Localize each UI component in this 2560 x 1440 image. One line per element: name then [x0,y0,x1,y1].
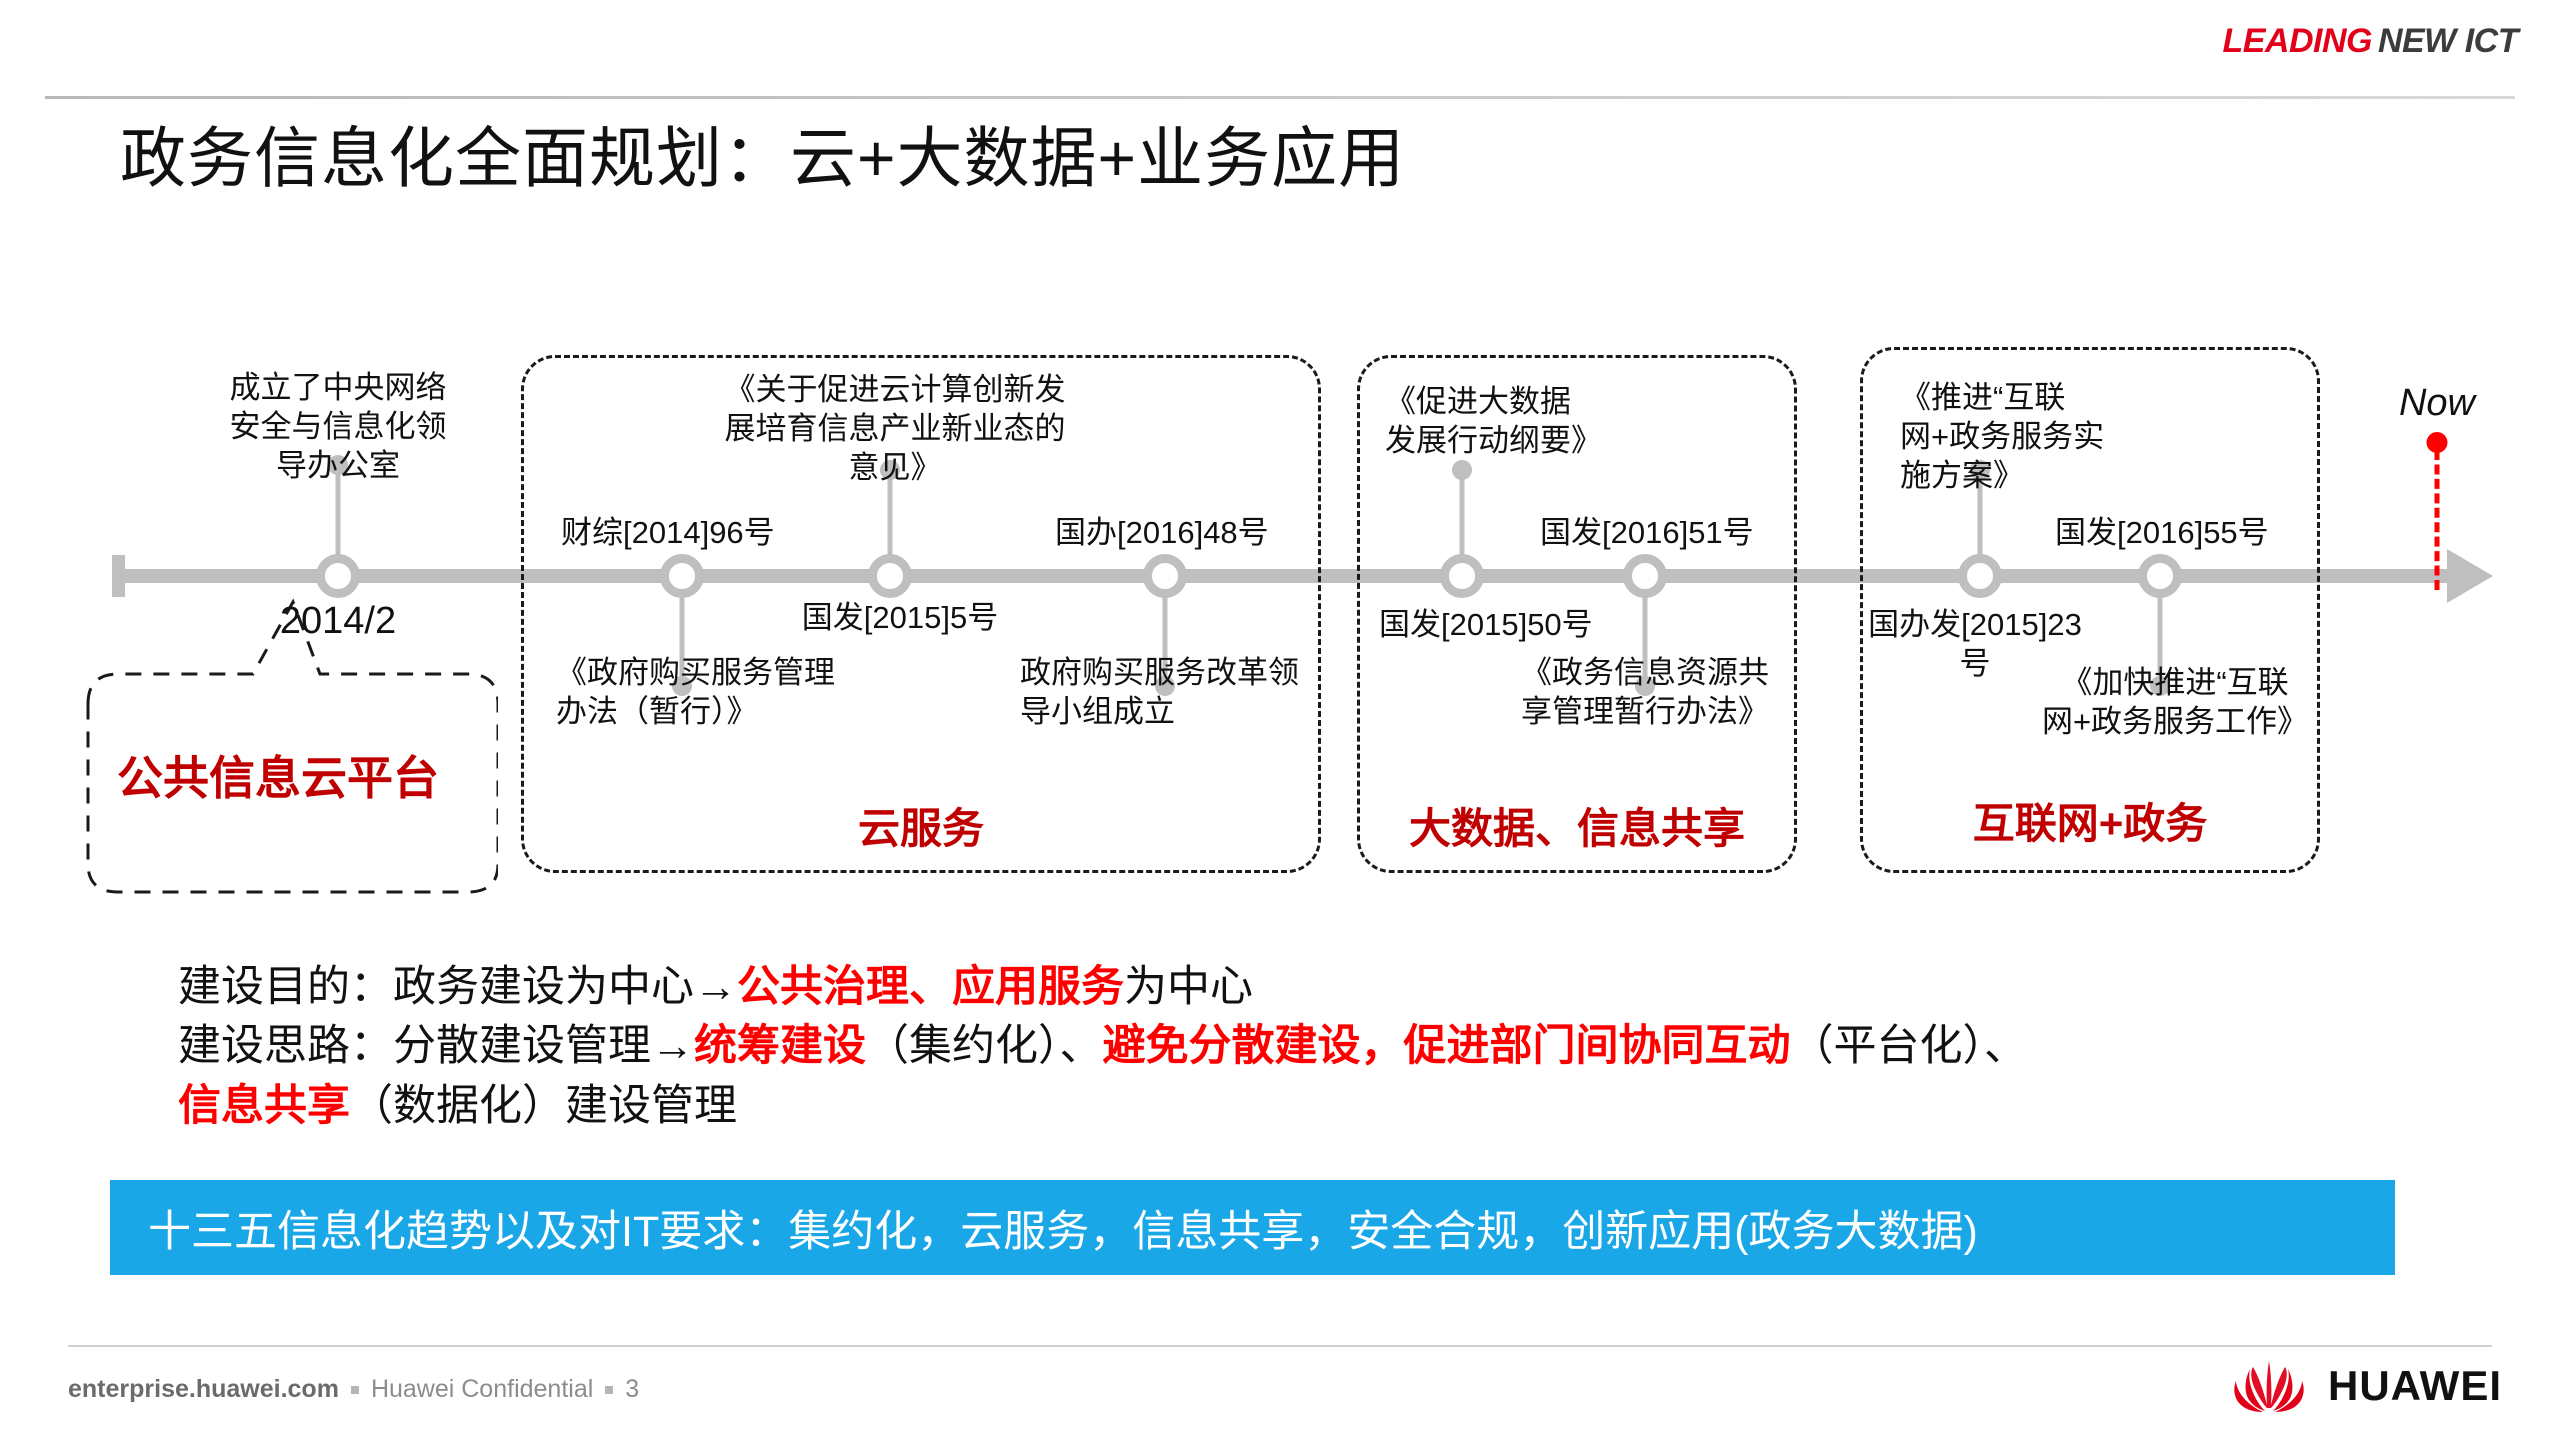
now-label: Now [2399,382,2475,425]
event-label-node-1-above: 成立了中央网络 安全与信息化领 导办公室 [230,368,447,485]
stem-dot-node-5 [1452,460,1472,480]
timeline-node-4[interactable] [1143,554,1187,598]
event-label-node-8-below: 《加快推进“互联 网+政务服务工作》 [2042,663,2308,741]
timeline-node-3[interactable] [868,554,912,598]
bullet-line-2: 建设思路：分散建设管理→统筹建设（集约化）、避免分散建设，促进部门间协同互动（平… [178,1017,2478,1076]
huawei-flower-icon [2226,1355,2312,1417]
timeline-node-2[interactable] [660,554,704,598]
event-date-node-1: 2014/2 [280,598,396,646]
group-label-cloud-service: 云服务 [858,795,984,856]
event-label-node-2-below: 《政府购买服务管理 办法（暂行）》 [556,653,835,731]
footer-divider [68,1345,2492,1347]
bullet-1-highlight: 公共治理、应用服务 [737,963,1124,1011]
leading-new-ict-logo: LEADINGNEW ICT [2222,22,2518,61]
timeline-node-8[interactable] [2138,554,2182,598]
timeline-node-6[interactable] [1623,554,1667,598]
footer-separator-icon-2 [605,1386,613,1394]
event-docnum-node-2: 财综[2014]96号 [561,513,775,552]
bullet-line-3: 信息共享（数据化）建设管理 [178,1077,2478,1136]
event-docnum-node-5: 国发[2015]50号 [1379,605,1593,644]
footer: enterprise.huawei.com Huawei Confidentia… [68,1375,639,1404]
footer-page-number: 3 [625,1375,639,1404]
stem-node-5 [1460,468,1465,560]
group-label-bigdata: 大数据、信息共享 [1409,795,1745,856]
event-label-node-6-below: 《政务信息资源共 享管理暂行办法》 [1521,653,1769,731]
bullet-3-highlight: 信息共享 [178,1082,350,1130]
banner-text: 十三五信息化趋势以及对IT要求：集约化，云服务，信息共享，安全合规，创新应用(政… [110,1197,1978,1259]
page-title: 政务信息化全面规划：云+大数据+业务应用 [120,105,1405,201]
brand-leading-text: LEADING [2222,22,2372,60]
event-label-node-4-below: 政府购买服务改革领 导小组成立 [1020,653,1299,731]
footer-separator-icon [351,1386,359,1394]
timeline-node-5[interactable] [1440,554,1484,598]
event-docnum-node-6: 国发[2016]51号 [1540,513,1754,552]
bullet-2-prefix: 建设思路：分散建设管理→ [178,1022,694,1070]
brand-newict-text: NEW ICT [2378,22,2518,60]
key-takeaway-banner: 十三五信息化趋势以及对IT要求：集约化，云服务，信息共享，安全合规，创新应用(政… [110,1180,2395,1275]
footer-confidential-label: Huawei Confidential [371,1375,593,1404]
bullet-line-1: 建设目的：政务建设为中心→公共治理、应用服务为中心 [178,958,2478,1017]
timeline-node-7[interactable] [1958,554,2002,598]
timeline-arrow-icon [2447,549,2493,603]
bullet-2-mid: （集约化）、 [866,1022,1103,1070]
timeline-node-1[interactable] [316,554,360,598]
huawei-wordmark: HUAWEI [2328,1362,2502,1410]
event-label-node-3-above: 《关于促进云计算创新发 展培育信息产业新业态的 意见》 [725,370,1066,487]
event-docnum-node-3: 国发[2015]5号 [802,598,998,637]
event-docnum-node-8: 国发[2016]55号 [2055,513,2269,552]
callout-public-info-cloud-platform: 公共信息云平台 [58,596,498,896]
summary-bullets: 建设目的：政务建设为中心→公共治理、应用服务为中心 建设思路：分散建设管理→统筹… [178,958,2478,1136]
group-label-internet-gov: 互联网+政务 [1973,790,2208,851]
bullet-2-suffix: （平台化）、 [1791,1022,2028,1070]
bullet-3-suffix: （数据化）建设管理 [350,1082,737,1130]
bullet-1-suffix: 为中心 [1124,963,1253,1011]
header-divider [45,96,2515,99]
callout-label: 公共信息云平台 [58,742,498,808]
slide-root: LEADINGNEW ICT 政务信息化全面规划：云+大数据+业务应用 云服务 … [0,0,2560,1440]
footer-site-link[interactable]: enterprise.huawei.com [68,1375,339,1404]
event-label-node-7-above: 《推进“互联 网+政务服务实 施方案》 [1900,378,2104,495]
bullet-2-highlight-1: 统筹建设 [694,1022,866,1070]
bullet-2-highlight-2: 避免分散建设，促进部门间协同互动 [1103,1022,1791,1070]
event-label-node-5-above: 《促进大数据 发展行动纲要》 [1385,382,1602,460]
huawei-logo: HUAWEI [2226,1355,2502,1417]
bullet-1-prefix: 建设目的：政务建设为中心→ [178,963,737,1011]
now-dashed-line [2435,450,2440,590]
event-docnum-node-4: 国办[2016]48号 [1055,513,1269,552]
